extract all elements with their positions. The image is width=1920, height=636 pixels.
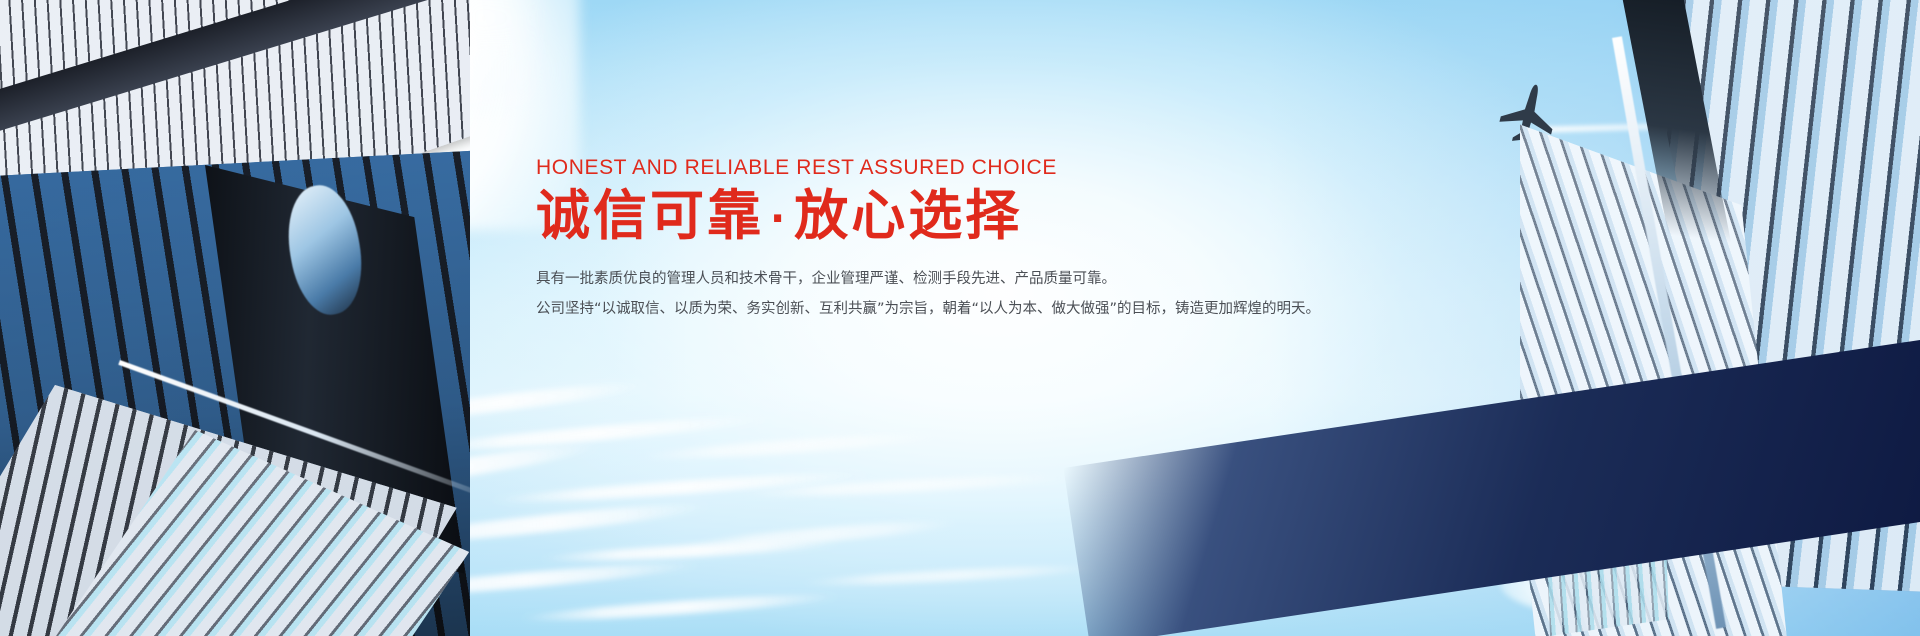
headline-separator-dot: · [764,196,794,242]
headline-part-2: 放心选择 [794,184,1022,247]
banner-copy-block: HONEST AND RELIABLE REST ASSURED CHOICE … [536,156,1356,323]
banner-body-line-2: 公司坚持“以诚取信、以质为荣、务实创新、互利共赢”为宗旨，朝着“以人为本、做大做… [536,295,1356,323]
left-skyscraper [0,0,470,636]
banner-body-line-1: 具有一批素质优良的管理人员和技术骨干，企业管理严谨、检测手段先进、产品质量可靠。 [536,265,1356,293]
banner-headline: 诚信可靠·放心选择 [536,186,1356,246]
hero-banner: HONEST AND RELIABLE REST ASSURED CHOICE … [0,0,1920,636]
headline-part-1: 诚信可靠 [536,184,764,247]
banner-eyebrow-english: HONEST AND RELIABLE REST ASSURED CHOICE [536,156,1356,179]
